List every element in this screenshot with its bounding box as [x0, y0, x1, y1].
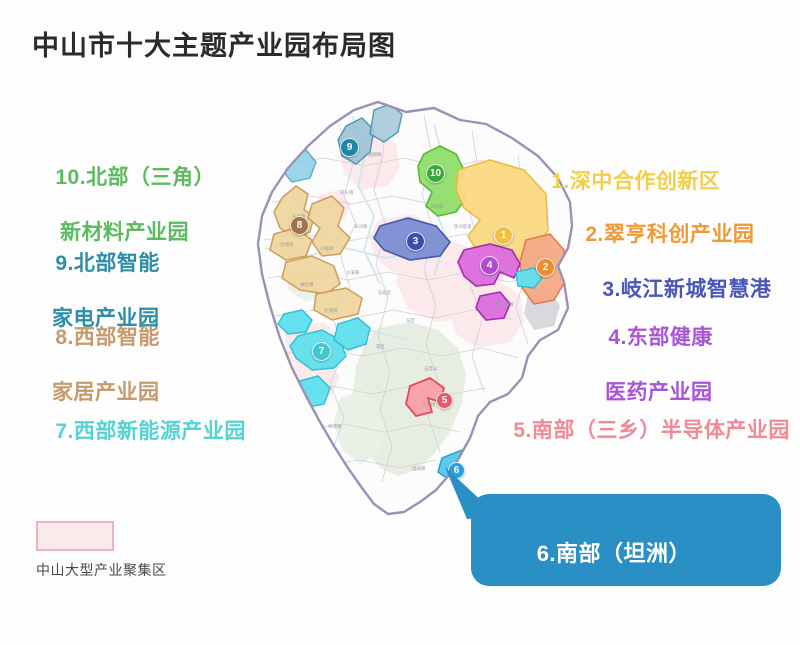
svg-text:三乡镇: 三乡镇 [422, 401, 436, 408]
svg-text:横栏镇: 横栏镇 [300, 281, 314, 288]
marker-label: 7 [319, 346, 325, 357]
svg-text:沙溪镇: 沙溪镇 [346, 269, 360, 276]
infographic-page: 中山市十大主题产业园布局图 [0, 0, 800, 645]
park-callout-6[interactable]: 6.南部（坦洲） 高端显示产业园 [471, 494, 781, 586]
park-label-7-line1: 7.西部新能源产业园 [55, 420, 246, 443]
map-marker-2[interactable]: 2 [536, 258, 555, 277]
svg-text:南区: 南区 [376, 343, 385, 349]
park-label-1-line1: 1.深中合作创新区 [551, 170, 720, 193]
marker-label: 1 [501, 230, 507, 241]
svg-text:南朗街道: 南朗街道 [496, 301, 514, 308]
map-marker-4[interactable]: 4 [480, 256, 499, 275]
legend-caption: 中山大型产业聚集区 [36, 560, 167, 580]
map-marker-1[interactable]: 1 [494, 226, 513, 245]
marker-label: 8 [297, 220, 303, 231]
map-marker-10[interactable]: 10 [426, 164, 445, 183]
park-label-9-line1: 9.北部智能 [55, 252, 160, 275]
svg-text:坦洲镇: 坦洲镇 [412, 465, 426, 472]
svg-text:大涌镇: 大涌镇 [324, 307, 338, 314]
svg-text:南头镇: 南头镇 [340, 189, 354, 196]
svg-text:石岐区: 石岐区 [378, 289, 392, 296]
park-label-8-line1: 8.西部智能 [55, 326, 160, 349]
svg-text:小榄镇: 小榄镇 [320, 245, 334, 252]
callout-text: 6.南部（坦洲） 高端显示产业园 [497, 506, 763, 645]
callout-line1: 6.南部（坦洲） [537, 541, 691, 566]
svg-text:东区: 东区 [406, 317, 415, 323]
map-marker-9[interactable]: 9 [340, 138, 359, 157]
svg-text:民众街道: 民众街道 [454, 223, 472, 230]
svg-text:古镇镇: 古镇镇 [280, 241, 294, 248]
park-label-2-line1: 2.翠亨科创产业园 [585, 223, 754, 246]
svg-text:黄圃镇: 黄圃镇 [368, 151, 382, 158]
map-marker-8[interactable]: 8 [290, 216, 309, 235]
marker-label: 6 [454, 465, 460, 476]
marker-label: 9 [347, 142, 353, 153]
legend-swatch [36, 521, 114, 551]
page-title: 中山市十大主题产业园布局图 [32, 24, 396, 63]
legend: 中山大型产业聚集区 [36, 521, 167, 580]
park-label-7[interactable]: 7.西部新能源产业园 [30, 390, 246, 473]
svg-text:三角镇: 三角镇 [430, 203, 444, 210]
park-label-10-line1: 10.北部（三角） [55, 166, 215, 189]
map-marker-5[interactable]: 5 [436, 392, 453, 409]
marker-label: 10 [430, 168, 441, 179]
map-marker-3[interactable]: 3 [406, 232, 425, 251]
park-label-5-line1: 5.南部（三乡）半导体产业园 [513, 419, 790, 442]
marker-label: 3 [413, 236, 419, 247]
park-label-5[interactable]: 5.南部（三乡）半导体产业园 [488, 389, 790, 472]
marker-label: 5 [442, 395, 448, 406]
map-marker-7[interactable]: 7 [312, 342, 331, 361]
svg-text:五桂山: 五桂山 [424, 365, 437, 372]
map-marker-6[interactable]: 6 [448, 462, 465, 479]
callout-line2: 高端显示产业园 [523, 602, 763, 634]
marker-label: 4 [487, 260, 493, 271]
park-label-4-line1: 4.东部健康 [608, 326, 713, 349]
svg-text:阜沙镇: 阜沙镇 [354, 223, 368, 230]
svg-text:神湾镇: 神湾镇 [328, 423, 342, 430]
marker-label: 2 [543, 262, 549, 273]
